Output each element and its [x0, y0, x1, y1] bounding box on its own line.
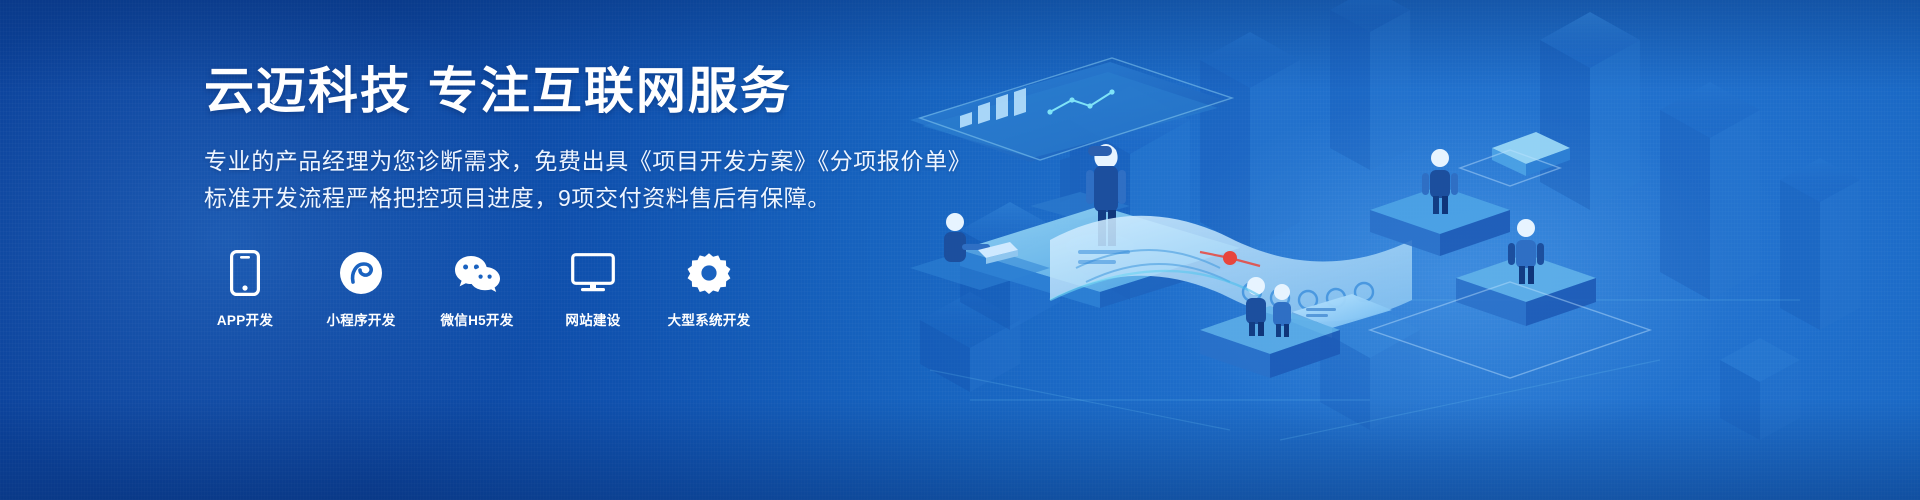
service-item-wechat-h5[interactable]: 微信H5开发 [436, 250, 518, 329]
service-list: APP开发 小程序开发 [204, 250, 904, 329]
service-label-wechat-h5: 微信H5开发 [440, 309, 513, 329]
subtitle-line-2: 标准开发流程严格把控项目进度，9项交付资料售后有保障。 [204, 180, 904, 217]
banner-subtitle: 专业的产品经理为您诊断需求，免费出具《项目开发方案》《分项报价单》 标准开发流程… [204, 143, 904, 218]
hero-illustration [900, 0, 1920, 500]
mini-program-icon [339, 250, 383, 296]
service-item-app[interactable]: APP开发 [204, 250, 286, 329]
subtitle-line-1: 专业的产品经理为您诊断需求，免费出具《项目开发方案》《分项报价单》 [204, 143, 904, 180]
service-item-large-system[interactable]: 大型系统开发 [668, 250, 750, 329]
wechat-icon [453, 250, 501, 296]
service-item-miniprogram[interactable]: 小程序开发 [320, 250, 402, 329]
mobile-phone-icon [230, 250, 260, 296]
banner-headline: 云迈科技 专注互联网服务 [204, 62, 904, 121]
desktop-monitor-icon [571, 250, 615, 296]
service-label-large-system: 大型系统开发 [668, 309, 751, 329]
service-label-miniprogram: 小程序开发 [327, 309, 396, 329]
service-label-app: APP开发 [217, 309, 273, 329]
gear-icon [687, 250, 731, 296]
hero-banner: 云迈科技 专注互联网服务 专业的产品经理为您诊断需求，免费出具《项目开发方案》《… [0, 0, 1920, 500]
service-item-website[interactable]: 网站建设 [552, 250, 634, 329]
banner-content: 云迈科技 专注互联网服务 专业的产品经理为您诊断需求，免费出具《项目开发方案》《… [204, 62, 904, 329]
service-label-website: 网站建设 [565, 309, 620, 329]
